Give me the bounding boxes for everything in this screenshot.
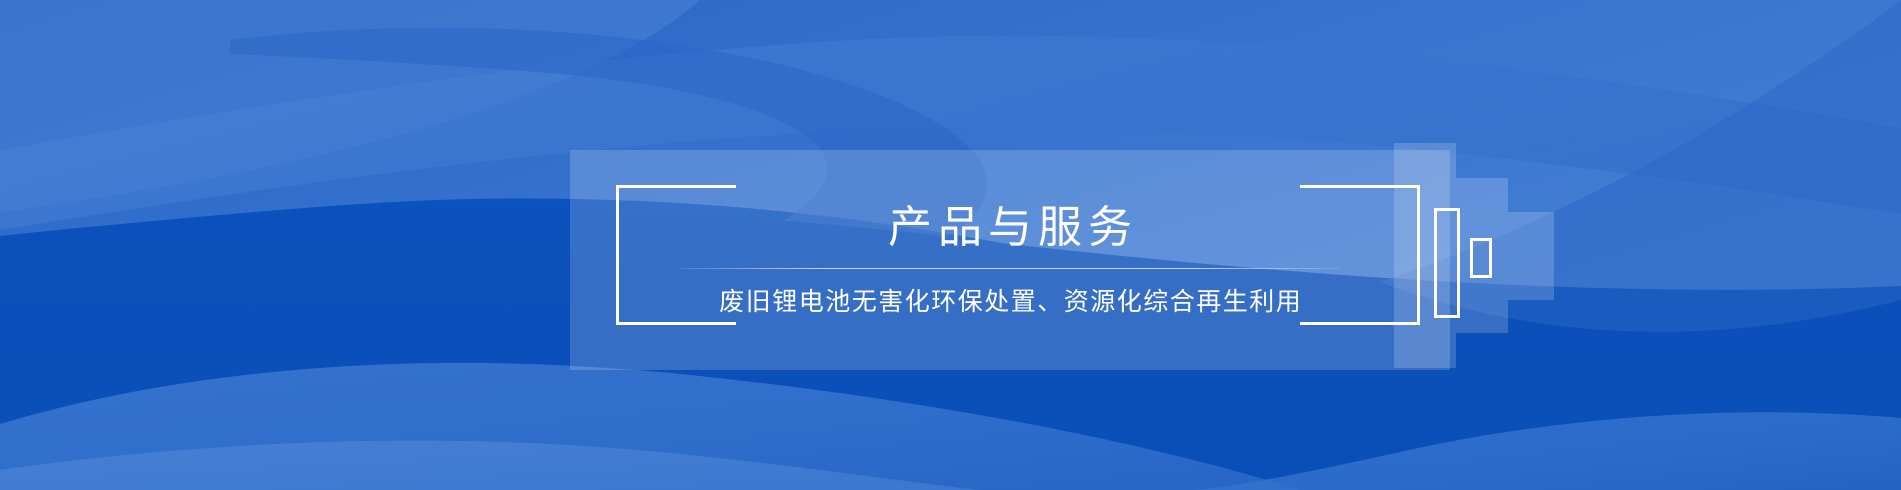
page-title: 产品与服务 <box>882 203 1138 254</box>
title-divider <box>680 268 1340 269</box>
decorative-step-block-3 <box>1508 212 1554 300</box>
product-service-banner: 产品与服务 废旧锂电池无害化环保处置、资源化综合再生利用 <box>0 0 1901 490</box>
page-subtitle: 废旧锂电池无害化环保处置、资源化综合再生利用 <box>718 287 1303 317</box>
banner-text-block: 产品与服务 废旧锂电池无害化环保处置、资源化综合再生利用 <box>570 150 1450 370</box>
battery-outline-small-icon <box>1470 238 1492 278</box>
